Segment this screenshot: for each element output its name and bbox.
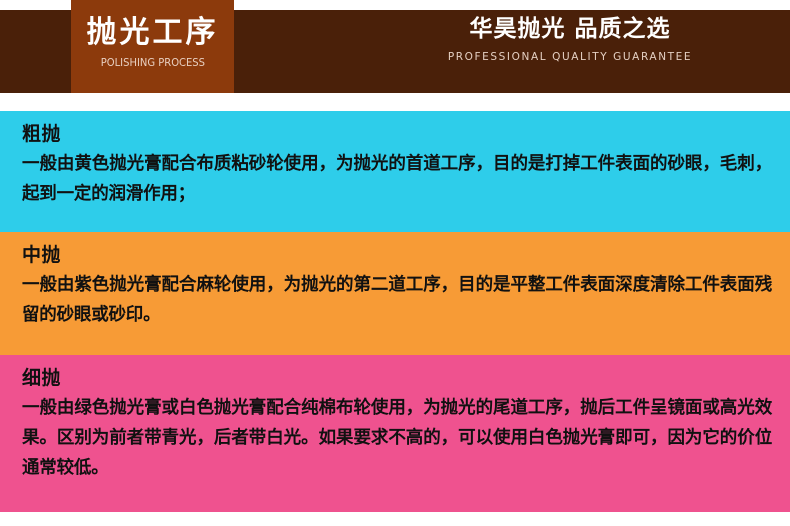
page-subtitle: POLISHING PROCESS	[100, 57, 204, 69]
page-header: 抛光工序 POLISHING PROCESS 华昊抛光 品质之选 PROFESS…	[0, 0, 790, 93]
page-title: 抛光工序	[87, 16, 219, 51]
footer-spacer	[0, 512, 790, 526]
slogan-chinese: 华昊抛光 品质之选	[390, 16, 750, 44]
section-coarse-polish: 粗抛 一般由黄色抛光膏配合布质粘砂轮使用，为抛光的首道工序，目的是打掉工件表面的…	[0, 111, 790, 232]
title-block: 抛光工序 POLISHING PROCESS	[71, 0, 234, 93]
section-medium-body: 一般由紫色抛光膏配合麻轮使用，为抛光的第二道工序，目的是平整工件表面深度清除工件…	[22, 270, 772, 330]
section-fine-title: 细抛	[22, 365, 772, 393]
section-coarse-title: 粗抛	[22, 121, 772, 149]
slogan-english: PROFESSIONAL QUALITY GUARANTEE	[390, 51, 750, 63]
section-medium-title: 中抛	[22, 242, 772, 270]
section-medium-polish: 中抛 一般由紫色抛光膏配合麻轮使用，为抛光的第二道工序，目的是平整工件表面深度清…	[0, 232, 790, 355]
header-spacer	[0, 93, 790, 111]
section-coarse-body: 一般由黄色抛光膏配合布质粘砂轮使用，为抛光的首道工序，目的是打掉工件表面的砂眼，…	[22, 149, 772, 209]
section-fine-polish: 细抛 一般由绿色抛光膏或白色抛光膏配合纯棉布轮使用，为抛光的尾道工序，抛后工件呈…	[0, 355, 790, 512]
section-fine-body: 一般由绿色抛光膏或白色抛光膏配合纯棉布轮使用，为抛光的尾道工序，抛后工件呈镜面或…	[22, 393, 772, 483]
slogan-block: 华昊抛光 品质之选 PROFESSIONAL QUALITY GUARANTEE	[390, 16, 750, 63]
